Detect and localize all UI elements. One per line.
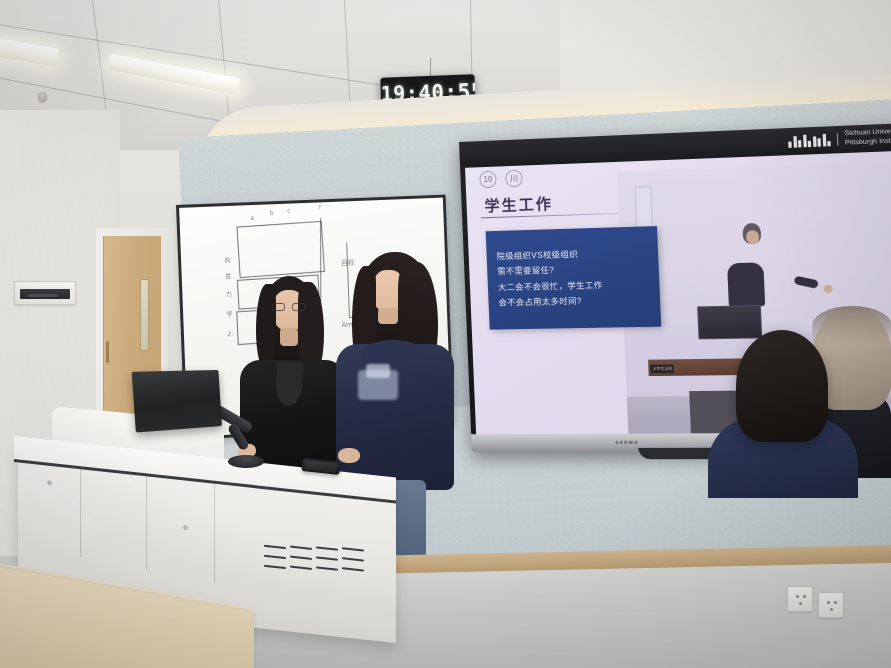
institute-line-2: Pittsburgh Institute: [845, 137, 891, 148]
power-outlet[interactable]: [818, 592, 844, 618]
photo-monitor: [697, 305, 762, 339]
lectern-vent-slot: [316, 566, 338, 570]
lectern-vent-slot: [290, 566, 312, 570]
slide-question-box: 院级组织VS校级组织 需不需要留任? 大二会不会很忙，学生工作 会不会占用太多时…: [486, 226, 662, 330]
lectern-vent-slot: [290, 556, 312, 560]
monitor-arm-base: [228, 455, 264, 468]
whiteboard-annotation: 2.: [227, 331, 233, 338]
lectern-monitor[interactable]: [132, 370, 222, 433]
institute-name: Sichuan University Pittsburgh Institute: [844, 128, 891, 148]
question-line: 会不会占用太多时间?: [498, 295, 650, 309]
whiteboard-annotation: 力: [226, 289, 232, 298]
lectern-vent-slot: [342, 567, 364, 571]
display-brand-logo: seewo: [615, 440, 639, 446]
door-handle[interactable]: [106, 341, 109, 363]
whiteboard-annotation: 构: [224, 256, 230, 265]
wall-control-panel[interactable]: [14, 281, 76, 305]
logo-divider: [837, 133, 839, 146]
hand: [338, 448, 360, 463]
lectern-panel-seam: [80, 457, 81, 557]
anniversary-logo-icon: 10: [479, 171, 497, 189]
question-line: 大二会不会很忙，学生工作: [498, 279, 649, 293]
whiteboard-annotation: c: [287, 207, 290, 214]
lectern-lock[interactable]: [48, 481, 51, 484]
question-line: 院级组织VS校级组织: [496, 247, 647, 262]
lectern-vent-slot: [264, 565, 286, 569]
lectern-vent-slot: [264, 555, 286, 559]
lectern-lock[interactable]: [184, 526, 187, 529]
hair-strand: [256, 284, 276, 370]
lectern-vent-slot: [342, 547, 364, 551]
lectern-panel-seam: [146, 466, 147, 570]
seal-logo-icon: 川: [505, 170, 523, 188]
whiteboard-annotation: 学: [226, 309, 232, 318]
slide-header-icons: 10 川: [479, 170, 523, 189]
whiteboard-annotation: b: [270, 210, 274, 217]
lectern-vent-slot: [316, 546, 338, 550]
photo-speaker-body: [727, 263, 765, 307]
eyeglasses-icon: [272, 303, 306, 312]
sprinkler-head: [38, 92, 47, 103]
lectern-vent-slot: [290, 546, 312, 550]
slide-title: 学生工作: [484, 193, 553, 216]
neck: [378, 308, 398, 324]
classroom-scene: 19:40:55 2025年 3月29日 星期六 构 思 力 学 2. a b …: [0, 0, 891, 668]
power-outlet[interactable]: [787, 586, 813, 612]
neck: [280, 328, 298, 346]
lectern-vent-slot: [342, 557, 364, 561]
lectern-vent-slot: [264, 545, 286, 549]
door-vision-panel: [140, 279, 149, 351]
scupi-logo-icon: [788, 134, 831, 148]
hoodie-graphic: [366, 364, 390, 378]
lectern-panel-seam: [214, 475, 215, 583]
whiteboard-annotation: 思: [225, 271, 231, 280]
lectern-vent-slot: [316, 556, 338, 560]
photo-lectern-plate: 大学生活动中心: [651, 365, 674, 373]
whiteboard-annotation: ?: [318, 204, 321, 211]
audience-hair: [812, 306, 891, 346]
question-line: 需不需要留任?: [497, 263, 648, 277]
whiteboard-drawing-box: [236, 221, 324, 278]
whiteboard-annotation: a: [250, 215, 254, 222]
audience-member-dark-hair: [736, 330, 828, 442]
hood: [362, 340, 424, 366]
